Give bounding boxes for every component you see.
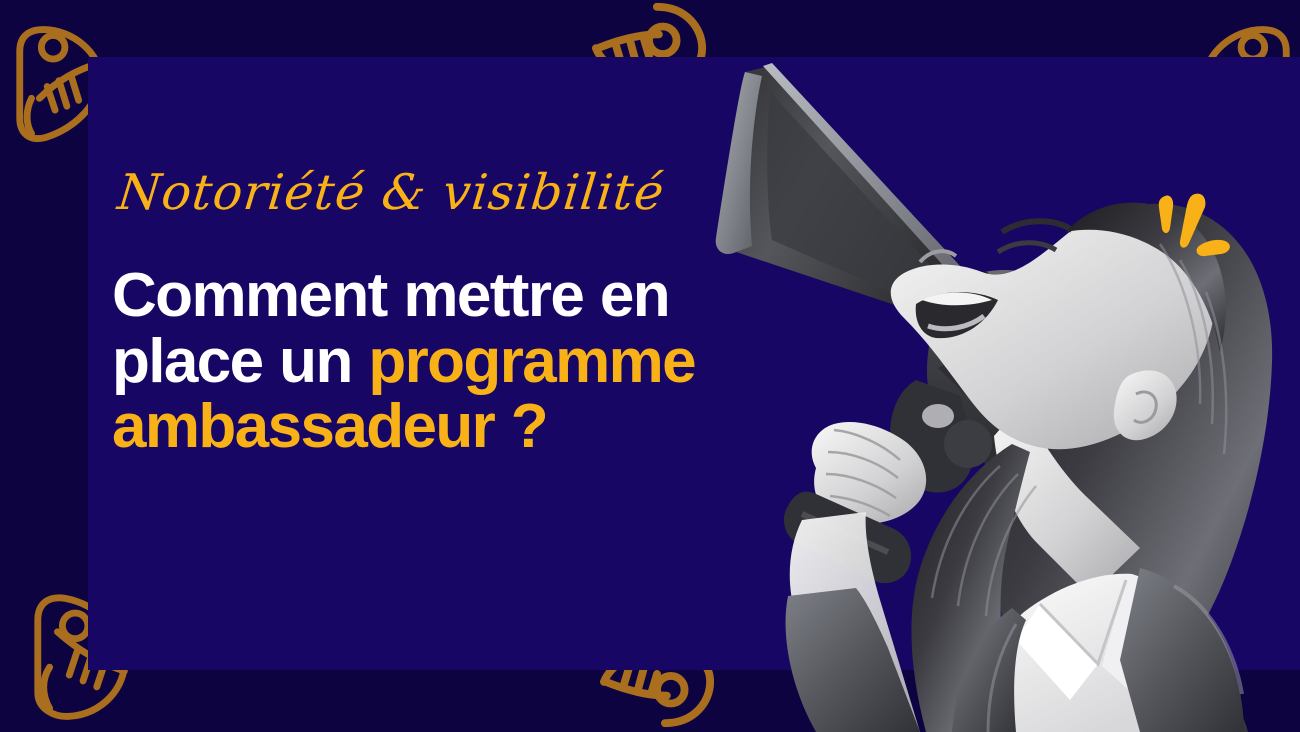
headline-line-3-accent: ambassadeur ? (112, 392, 547, 461)
promo-banner: Notoriété & visibilité Comment mettre en… (0, 0, 1300, 732)
headline-line-2-accent: programme (368, 327, 695, 396)
headline-line-1: Comment mettre en (112, 261, 669, 330)
spark-marks-icon (1155, 188, 1235, 258)
text-block: Notoriété & visibilité Comment mettre en… (112, 168, 792, 460)
page-title: Comment mettre en place un programme amb… (112, 263, 792, 460)
headline-line-2-plain: place un (112, 327, 368, 396)
eyebrow-script-text: Notoriété & visibilité (115, 168, 794, 217)
